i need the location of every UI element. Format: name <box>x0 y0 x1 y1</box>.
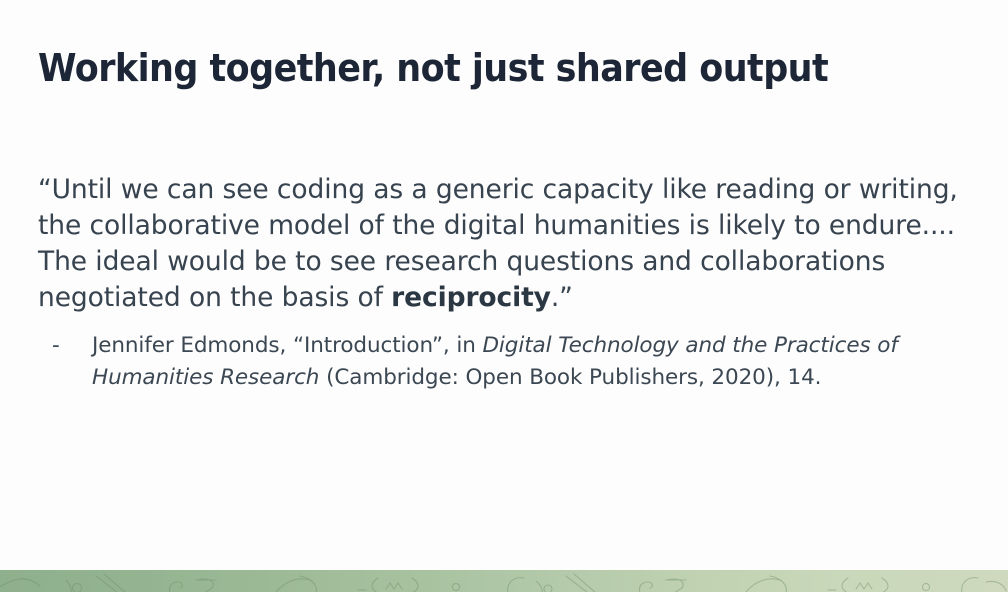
citation-publication: (Cambridge: Open Book Publishers, 2020),… <box>319 365 821 390</box>
quote-close-mark: .” <box>551 282 573 313</box>
page-title: Working together, not just shared output <box>38 44 884 92</box>
slide-body: “Until we can see coding as a generic ca… <box>38 172 968 394</box>
doodle-pattern-icon <box>0 570 1008 592</box>
citation-author: Jennifer Edmonds, <box>92 333 293 358</box>
pull-quote: “Until we can see coding as a generic ca… <box>38 172 968 316</box>
citation-chapter: “Introduction”, in <box>293 333 483 358</box>
decorative-doodle-band <box>0 570 1008 592</box>
slide-canvas: Working together, not just shared output… <box>0 0 1008 592</box>
quote-emphasis: reciprocity <box>391 282 551 313</box>
quote-line-1: “Until we can see coding as a generic ca… <box>38 174 850 205</box>
bullet-dash-icon: - <box>52 330 60 362</box>
quote-citation: -Jennifer Edmonds, “Introduction”, in Di… <box>38 330 968 394</box>
